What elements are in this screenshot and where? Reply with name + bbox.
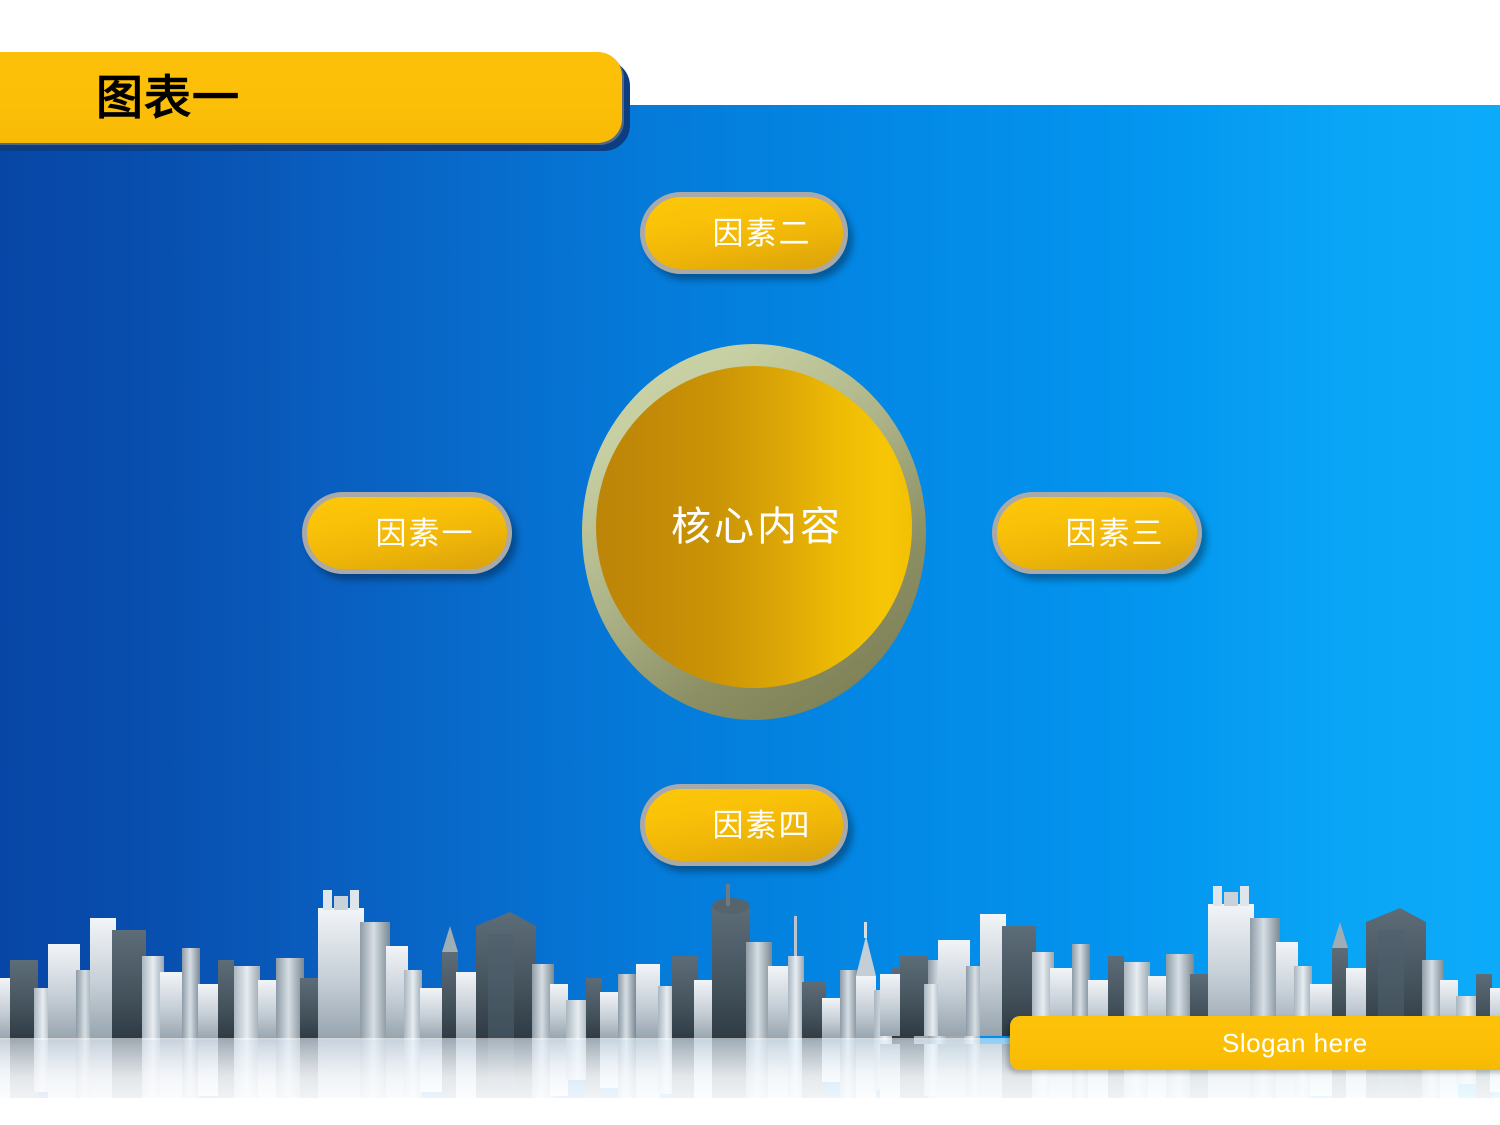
diagram-node-factor-1[interactable]: 因素一 [302,492,512,574]
node-label-factor-4: 因素四 [713,810,812,841]
diagram-node-factor-3[interactable]: 因素三 [992,492,1202,574]
slogan-bar: Slogan here [1010,1016,1500,1070]
diagram-node-factor-4[interactable]: 因素四 [640,784,848,866]
center-node-core: 核心内容 [596,366,912,688]
city-skyline-icon [0,860,1500,1125]
page-title: 图表一 [96,74,240,121]
center-node-label: 核心内容 [671,507,843,547]
node-label-factor-2: 因素二 [713,218,812,249]
node-label-factor-3: 因素三 [1066,518,1165,549]
slide-canvas: 图表一 核心内容 因素二 因素一 因素三 因素四 Slogan here [0,0,1500,1125]
diagram-center-node[interactable]: 核心内容 [582,344,926,720]
diagram-node-factor-2[interactable]: 因素二 [640,192,848,274]
title-banner: 图表一 [0,52,622,143]
slogan-text: Slogan here [1222,1030,1368,1056]
node-label-factor-1: 因素一 [376,518,475,549]
